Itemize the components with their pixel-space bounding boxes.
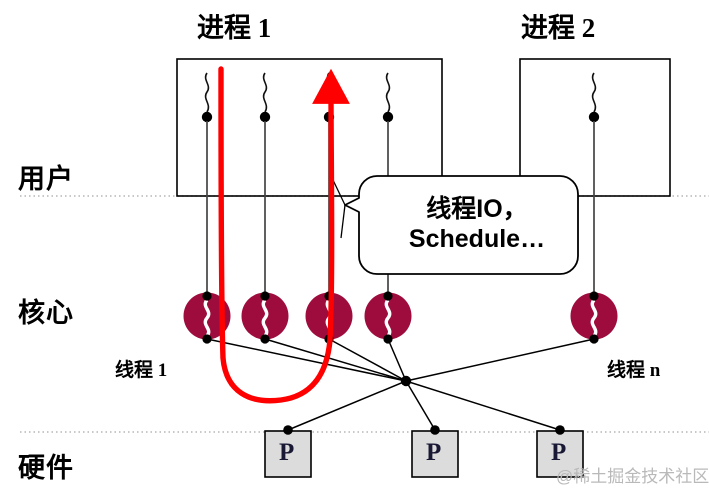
diagram-canvas: 进程 1 进程 2 用户 核心 硬件 线程 1 线程 n 线程IO， Sched… <box>0 0 709 497</box>
thread-label-last: 线程 n <box>607 355 660 382</box>
kernel-thread-2 <box>242 291 289 343</box>
layer-label-hardware: 硬件 <box>18 446 74 485</box>
kernel-thread-4 <box>365 291 412 343</box>
user-thread-n <box>589 73 599 300</box>
highlight-execution-path <box>221 69 332 401</box>
thread-model-diagram <box>0 0 709 497</box>
processor-label-1: P <box>279 439 294 467</box>
processor-label-2: P <box>426 439 441 467</box>
scheduler-links <box>207 339 594 430</box>
kernel-thread-n <box>571 291 618 343</box>
user-thread-1 <box>202 73 212 300</box>
scheduler-junction-node <box>401 376 411 386</box>
process-1-title: 进程 1 <box>197 6 271 45</box>
callout-bubble <box>333 176 578 274</box>
watermark-text: @稀土掘金技术社区 <box>556 462 709 487</box>
user-thread-2 <box>260 73 270 300</box>
process-2-title: 进程 2 <box>521 6 595 45</box>
layer-label-user: 用户 <box>18 157 74 196</box>
layer-label-kernel: 核心 <box>18 291 74 330</box>
thread-label-first: 线程 1 <box>115 355 167 382</box>
